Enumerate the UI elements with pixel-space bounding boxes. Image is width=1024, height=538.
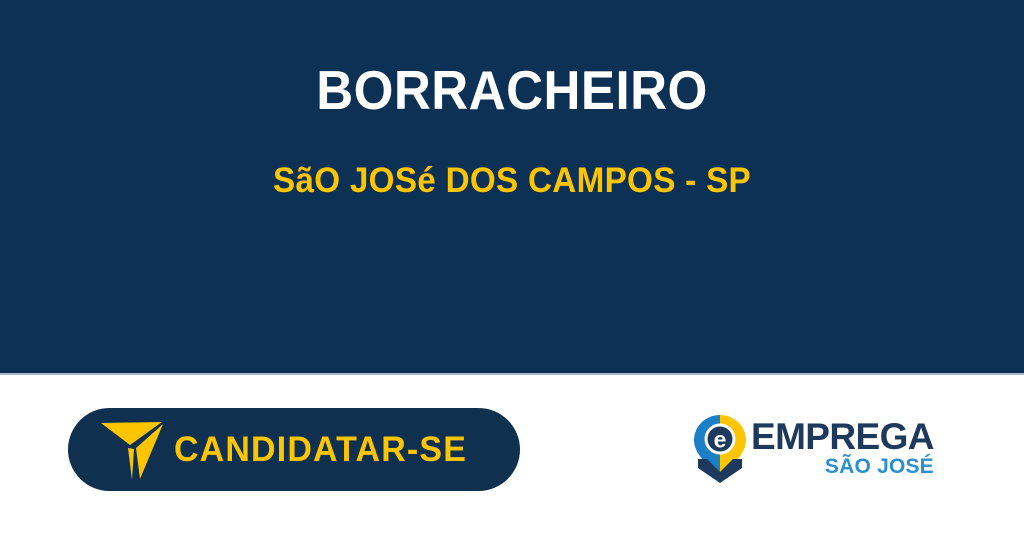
job-location: SãO JOSé DOS CAMPOS - SP — [26, 122, 999, 202]
apply-button[interactable]: CANDIDATAR-SE — [68, 408, 520, 491]
svg-text:e: e — [714, 427, 727, 453]
map-pin-icon: e — [693, 414, 747, 484]
brand-wordmark: EMPREGA SÃO JOSÉ — [751, 420, 934, 478]
brand-subtitle: SÃO JOSÉ — [825, 456, 934, 478]
hero-banner: BORRACHEIRO SãO JOSé DOS CAMPOS - SP — [0, 0, 1024, 373]
brand-logo[interactable]: e EMPREGA SÃO JOSÉ — [693, 411, 925, 487]
job-posting-card: BORRACHEIRO SãO JOSé DOS CAMPOS - SP CAN… — [0, 0, 1024, 538]
paper-plane-send-icon — [100, 419, 166, 481]
page-title: BORRACHEIRO — [36, 58, 988, 122]
action-bar: CANDIDATAR-SE e EMPREGA SÃO JOSÉ — [0, 375, 1024, 538]
brand-name: EMPREGA — [751, 420, 934, 454]
apply-button-label: CANDIDATAR-SE — [174, 432, 467, 467]
